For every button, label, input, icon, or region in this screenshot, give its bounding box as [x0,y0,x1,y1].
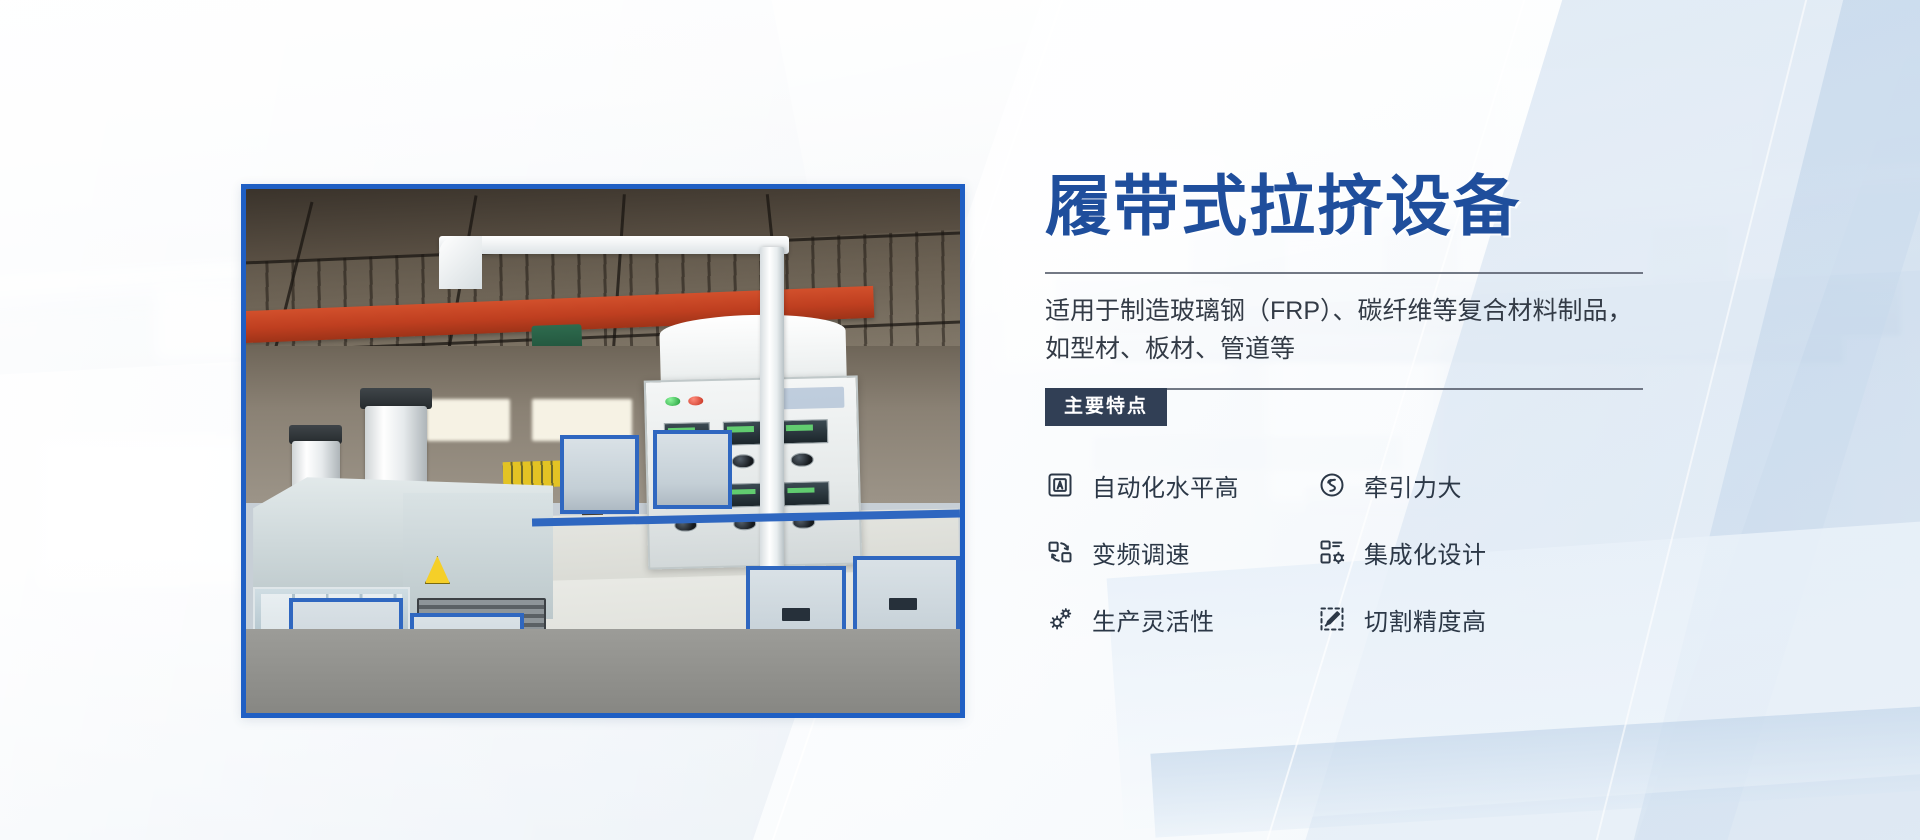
badge-row: 主要特点 [1045,388,1655,426]
feature-label: 生产灵活性 [1092,602,1215,637]
photo-panel-meter-3 [781,418,828,443]
photo-factory-floor [246,629,960,713]
feature-item-traction: 牵引力大 [1317,468,1589,503]
photo-cabinet-slot-5 [782,608,811,621]
feature-item-automation: 自动化水平高 [1045,468,1317,503]
photo-panel-hood [659,312,846,385]
banner-content: 履带式拉挤设备 适用于制造玻璃钢（FRP）、碳纤维等复合材料制品，如型材、板材、… [1045,170,1655,637]
photo-cabinet-3 [560,435,639,514]
feature-item-frequency: 变频调速 [1045,535,1317,570]
frequency-speed-control-icon [1045,537,1075,567]
traction-wave-circle-icon [1317,470,1347,500]
feature-item-flexibility: 生产灵活性 [1045,602,1317,637]
feature-label: 变频调速 [1092,535,1190,570]
photo-window-1 [425,399,511,441]
photo-panel-knob-2 [731,453,754,467]
feature-item-precision: 切割精度高 [1317,602,1589,637]
feature-item-integrated: 集成化设计 [1317,535,1589,570]
photo-cylinder-2 [365,406,428,490]
feature-label: 切割精度高 [1364,602,1487,637]
status-badge: 主要特点 [1045,388,1167,426]
photo-panel-lamp-green [665,396,680,406]
gears-flexibility-icon [1045,604,1075,634]
integrated-design-sitemap-icon [1317,537,1347,567]
photo-gantry-elbow [439,236,482,288]
page-subtitle: 适用于制造玻璃钢（FRP）、碳纤维等复合材料制品，如型材、板材、管道等 [1045,292,1645,368]
divider-top [1045,272,1643,274]
photo-panel-lamp-red [688,396,703,406]
page-title: 履带式拉挤设备 [1045,170,1655,244]
photo-window-2 [532,399,632,441]
automation-box-a-icon [1045,470,1075,500]
photo-gantry-arm [439,236,789,254]
photo-cabinet-slot-6 [889,598,918,611]
feature-list: 自动化水平高 牵引力大 [1045,468,1655,637]
photo-panel-knob-3 [790,452,813,466]
facet-bottom-strip [1150,691,1920,838]
photo-cabinet-4 [653,430,732,509]
bg-machine-shape-5 [1651,227,1728,294]
feature-label: 自动化水平高 [1092,468,1239,503]
photo-panel-meter-6 [783,481,830,506]
precision-cut-pen-icon [1317,604,1347,634]
product-photo-inner [246,189,960,713]
product-banner: 履带式拉挤设备 适用于制造玻璃钢（FRP）、碳纤维等复合材料制品，如型材、板材、… [0,0,1920,840]
feature-label: 集成化设计 [1364,535,1487,570]
product-photo [241,184,965,718]
feature-label: 牵引力大 [1364,468,1462,503]
